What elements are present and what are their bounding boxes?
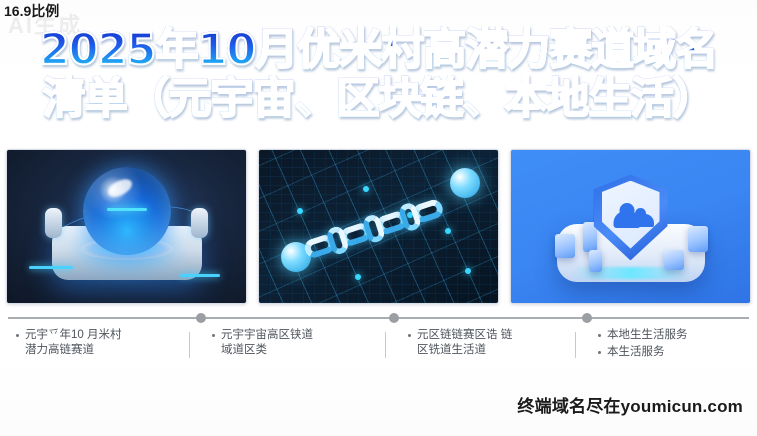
timeline-node[interactable] (582, 313, 592, 323)
column-divider (575, 332, 576, 358)
network-node (445, 228, 451, 234)
page-title: 2025年10月优米村高潜力赛道域名 清单（元宇宙、区块链、本地生活） (0, 26, 757, 124)
col-track: 元区链链赛区诰 链 区铣道生活道 (392, 328, 582, 384)
local-life-shield-image[interactable] (510, 149, 751, 304)
orb-hud-bar (107, 208, 147, 211)
image-row (0, 149, 757, 304)
col-blockchain: 元宇宇宙高区铗道 域道区类 (196, 328, 392, 384)
timeline-node[interactable] (196, 313, 206, 323)
list-item: 元宇乊年10 月米村 潜力高链赛道 (16, 328, 186, 358)
bullet-columns: 元宇乊年10 月米村 潜力高链赛道 元宇宇宙高区铗道 域道区类 元区链链赛区诰 … (0, 328, 757, 384)
aspect-ratio-label: 16.9比例 (4, 1, 59, 21)
list-item: 元宇宇宙高区铗道 域道区类 (212, 328, 382, 358)
timeline-node[interactable] (389, 313, 399, 323)
list-item: 元区链链赛区诰 链 区铣道生活道 (408, 328, 572, 358)
column-divider (385, 332, 386, 358)
col-metaverse: 元宇乊年10 月米村 潜力高链赛道 (0, 328, 196, 384)
headset-earcup-left (45, 208, 62, 238)
network-node (363, 186, 369, 192)
people-icon-body-2 (634, 214, 654, 227)
col-local-life: 本地生生活服务 本生活服务 (582, 328, 757, 384)
network-node (355, 274, 361, 280)
blockchain-chain-image[interactable] (258, 149, 499, 304)
decorative-cube (664, 250, 684, 270)
column-divider (189, 332, 190, 358)
list-item: 本生活服务 (598, 345, 747, 360)
title-line-2: 清单（元宇宙、区块链、本地生活） (0, 75, 757, 124)
network-node (297, 208, 303, 214)
list-item: 本地生生活服务 (598, 328, 747, 343)
orb-highlight (105, 176, 135, 201)
headset-earcup-right (191, 208, 208, 238)
network-node (465, 268, 471, 274)
metaverse-orb-image[interactable] (6, 149, 247, 304)
pedestal-light-left (29, 266, 73, 269)
decorative-cube (555, 234, 575, 258)
timeline-axis (8, 317, 749, 319)
glass-orb-shape (83, 167, 171, 255)
title-line-1: 2025年10月优米村高潜力赛道域名 (0, 26, 757, 75)
chain-end-ball-right (450, 168, 480, 198)
pedestal-light-right (180, 274, 220, 277)
decorative-cube (688, 226, 708, 252)
footer-brand-text: 终端域名尽在youmicun.com (517, 392, 743, 417)
decorative-cube (589, 250, 602, 272)
